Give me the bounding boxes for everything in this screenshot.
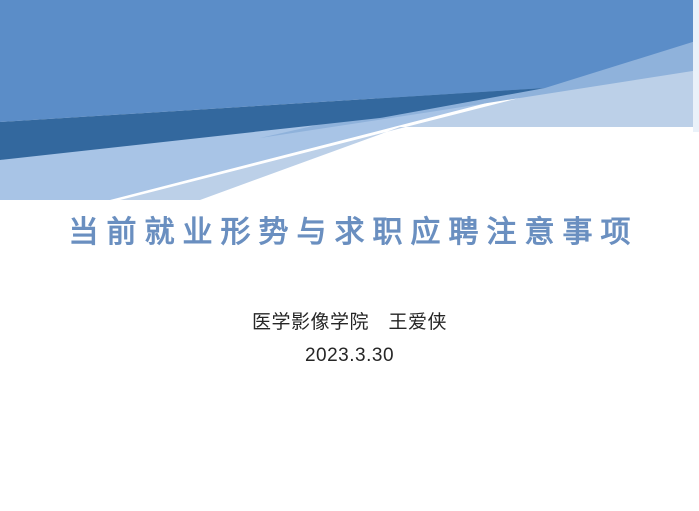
banner-graphic [0, 0, 699, 200]
title-placeholder: 当前就业形势与求职应聘注意事项 [0, 206, 699, 260]
page-title: 当前就业形势与求职应聘注意事项 [0, 206, 699, 260]
right-edge-highlight [693, 0, 699, 132]
presentation-title-slide: 当前就业形势与求职应聘注意事项 医学影像学院 王爱侠 2023.3.30 [0, 0, 699, 511]
subtitle-date: 2023.3.30 [0, 339, 699, 372]
subtitle-organization-author: 医学影像学院 王爱侠 [0, 306, 699, 339]
subtitle-placeholder: 医学影像学院 王爱侠 2023.3.30 [0, 306, 699, 372]
decorative-blue-banner [0, 0, 699, 200]
